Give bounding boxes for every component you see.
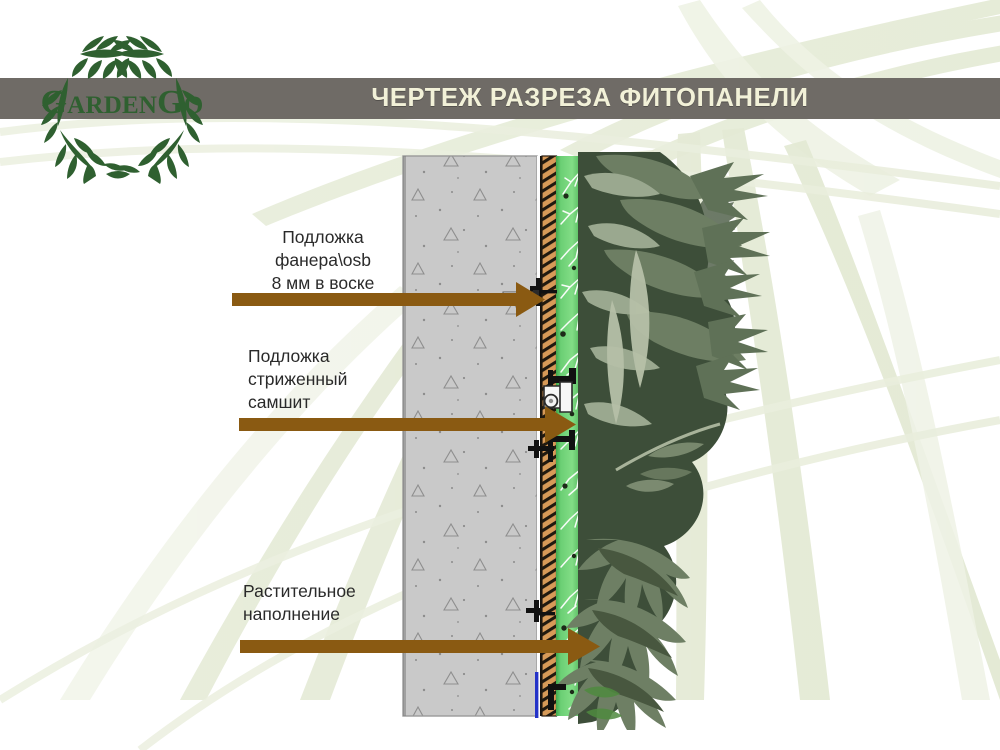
callout-podlozhka-fanera: Подложка фанера\osb 8 мм в воске (233, 226, 413, 294)
callout-label: Растительное наполнение (243, 580, 443, 626)
brand-name: GARDENGO (22, 84, 222, 122)
brand-logo[interactable]: GARDENGO (22, 34, 222, 184)
page-title: ЧЕРТЕЖ РАЗРЕЗА ФИТОПАНЕЛИ (191, 84, 808, 113)
concrete-wall (403, 156, 537, 716)
accent-blue-mark (535, 672, 538, 718)
callout-rastitelnoe-napolnenie: Растительное наполнение (243, 580, 443, 626)
callout-podlozhka-samshit: Подложка стриженный самшит (248, 345, 438, 413)
callout-label: Подложка стриженный самшит (248, 345, 438, 413)
plant-fill-layer (556, 152, 770, 740)
callout-label: Подложка фанера\osb 8 мм в воске (233, 226, 413, 294)
